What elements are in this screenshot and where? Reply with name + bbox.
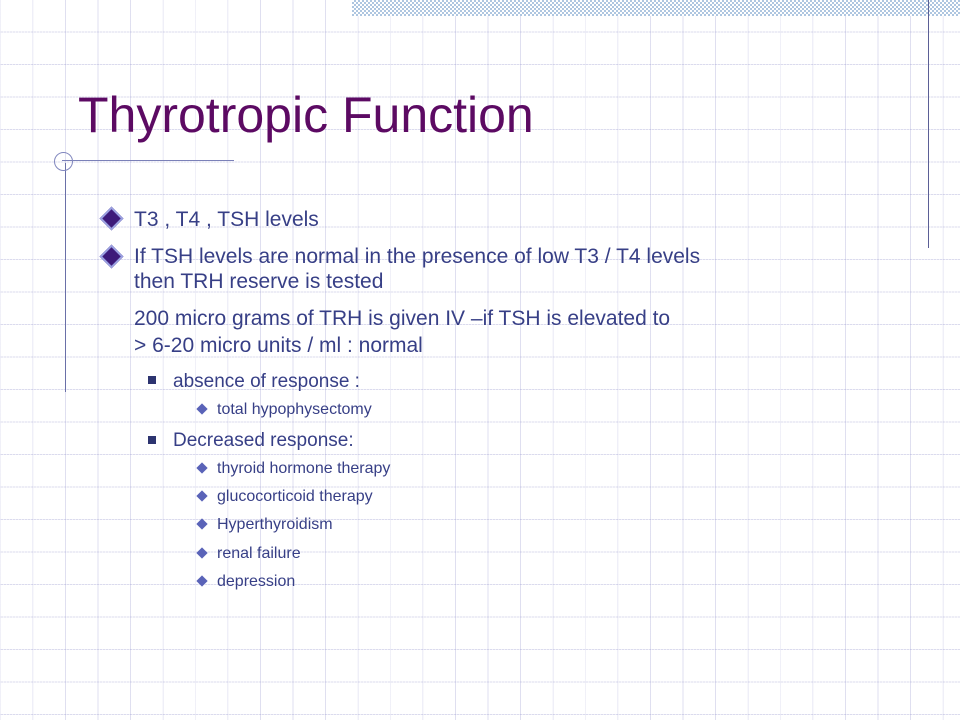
small-diamond-bullet-icon [196,403,207,414]
square-bullet-icon [148,376,156,384]
bullet-item-tsh-normal-line1: If TSH levels are normal in the presence… [134,243,700,270]
paragraph-trh-dose-line1: 200 micro grams of TRH is given IV –if T… [134,305,670,332]
list-item-hyperthyroidism: Hyperthyroidism [217,514,333,536]
paragraph-trh-dose-line2: > 6-20 micro units / ml : normal [134,332,423,359]
list-item-depression: depression [217,571,295,593]
bullet-item-t3-t4-tsh-levels: T3 , T4 , TSH levels [134,206,319,233]
slide-body: T3 , T4 , TSH levels If TSH levels are n… [0,0,960,720]
list-item-renal-failure: renal failure [217,543,301,565]
list-item-thyroid-hormone-therapy: thyroid hormone therapy [217,458,390,480]
diamond-bullet-icon [99,244,123,268]
small-diamond-bullet-icon [196,462,207,473]
small-diamond-bullet-icon [196,490,207,501]
small-diamond-bullet-icon [196,575,207,586]
small-diamond-bullet-icon [196,547,207,558]
subheading-absence-of-response: absence of response : [173,369,360,394]
list-item-glucocorticoid-therapy: glucocorticoid therapy [217,486,373,508]
small-diamond-bullet-icon [196,518,207,529]
list-item-total-hypophysectomy: total hypophysectomy [217,399,372,421]
subheading-decreased-response: Decreased response: [173,428,354,453]
square-bullet-icon [148,436,156,444]
diamond-bullet-icon [99,206,123,230]
slide-canvas: Thyrotropic Function T3 , T4 , TSH level… [0,0,960,720]
bullet-item-tsh-normal-line2: then TRH reserve is tested [134,268,383,295]
